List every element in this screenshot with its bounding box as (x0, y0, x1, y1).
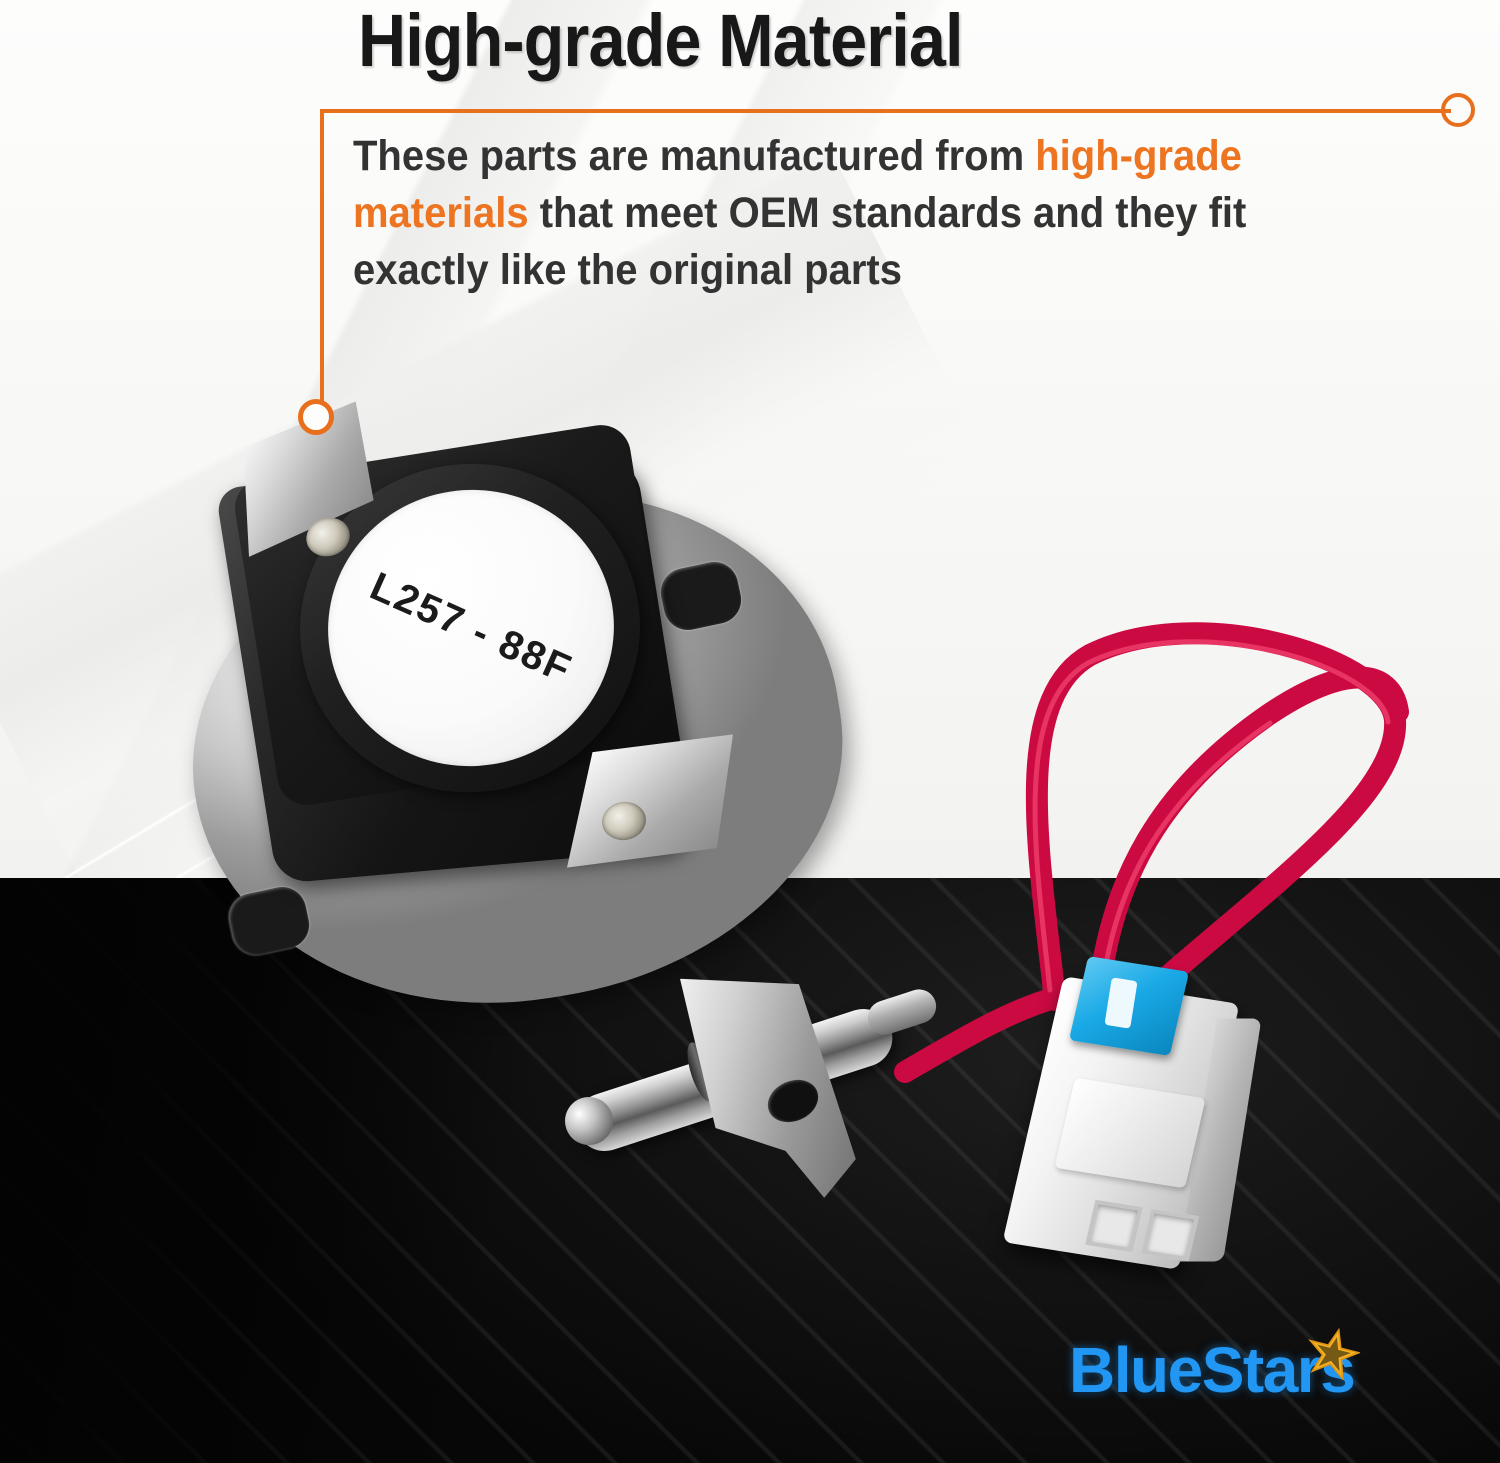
callout-vertical-line (320, 109, 324, 412)
thermostat-spec-label-text: L257 - 88F (363, 564, 578, 693)
two-pin-white-connector (1012, 965, 1282, 1290)
callout-endpoint-circle-right (1441, 93, 1475, 127)
thermistor-probe-assembly (555, 955, 975, 1225)
body-copy: These parts are manufactured from high-g… (353, 128, 1385, 299)
connector-pin-1 (1085, 1200, 1143, 1252)
body-copy-part-1: These parts are manufactured from (353, 132, 1035, 180)
connector-pin-2 (1141, 1209, 1199, 1261)
brand-logo: BlueStars (1069, 1338, 1354, 1404)
page-title: High-grade Material (358, 0, 963, 83)
product-marketing-image: High-grade Material These parts are manu… (0, 0, 1500, 1463)
probe-cable-sleeve (863, 985, 940, 1039)
star-icon (1306, 1326, 1360, 1380)
callout-endpoint-circle-left (298, 399, 334, 435)
callout-horizontal-line (320, 109, 1451, 113)
